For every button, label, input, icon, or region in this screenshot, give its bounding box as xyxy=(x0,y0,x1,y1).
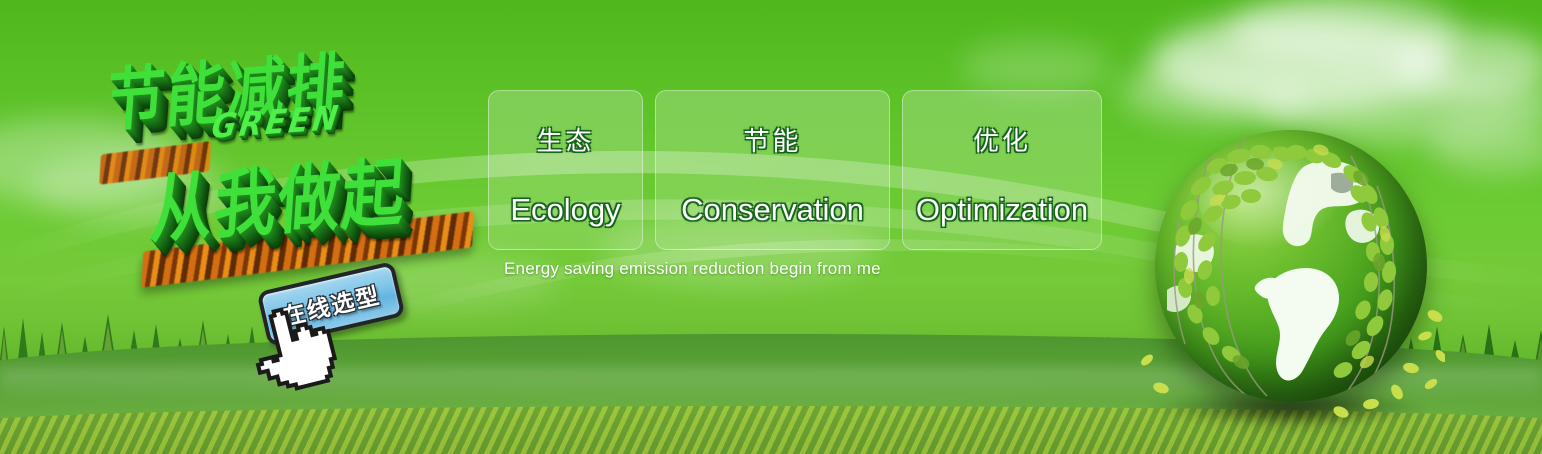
feature-box-group: 生态 Ecology 节能 Conservation 优化 Optimizati… xyxy=(488,90,1102,250)
feature-box-ecology[interactable]: 生态 Ecology xyxy=(488,90,643,250)
cloud-icon xyxy=(1230,0,1460,72)
cta-area: 在线选型 xyxy=(245,268,435,388)
feature-title-cn: 节能 xyxy=(743,121,801,158)
logo-line-2: 从我做起 xyxy=(147,131,410,258)
earth-globe xyxy=(1135,120,1445,430)
hero-logo: 节能减排 GREEN 从我做起 xyxy=(88,26,503,283)
pointing-hand-cursor-icon xyxy=(245,306,341,392)
feature-box-optimization[interactable]: 优化 Optimization xyxy=(902,90,1102,250)
tagline-text: Energy saving emission reduction begin f… xyxy=(504,259,881,279)
feature-title-cn: 生态 xyxy=(536,121,594,158)
feature-title-en: Optimization xyxy=(916,192,1088,228)
cloud-icon xyxy=(1430,120,1542,174)
cloud-icon xyxy=(1120,60,1310,124)
eco-banner: 节能减排 GREEN 从我做起 生态 Ecology 节能 Conservati… xyxy=(0,0,1542,454)
feature-box-conservation[interactable]: 节能 Conservation xyxy=(655,90,890,250)
cloud-icon xyxy=(1150,14,1450,110)
feature-title-en: Conservation xyxy=(681,192,864,228)
feature-title-en: Ecology xyxy=(510,192,620,228)
cloud-icon xyxy=(960,40,1110,94)
globe-sphere xyxy=(1155,130,1427,402)
cloud-icon xyxy=(1392,30,1542,100)
feature-title-cn: 优化 xyxy=(973,121,1031,158)
vine-leaves-icon xyxy=(1155,130,1427,402)
